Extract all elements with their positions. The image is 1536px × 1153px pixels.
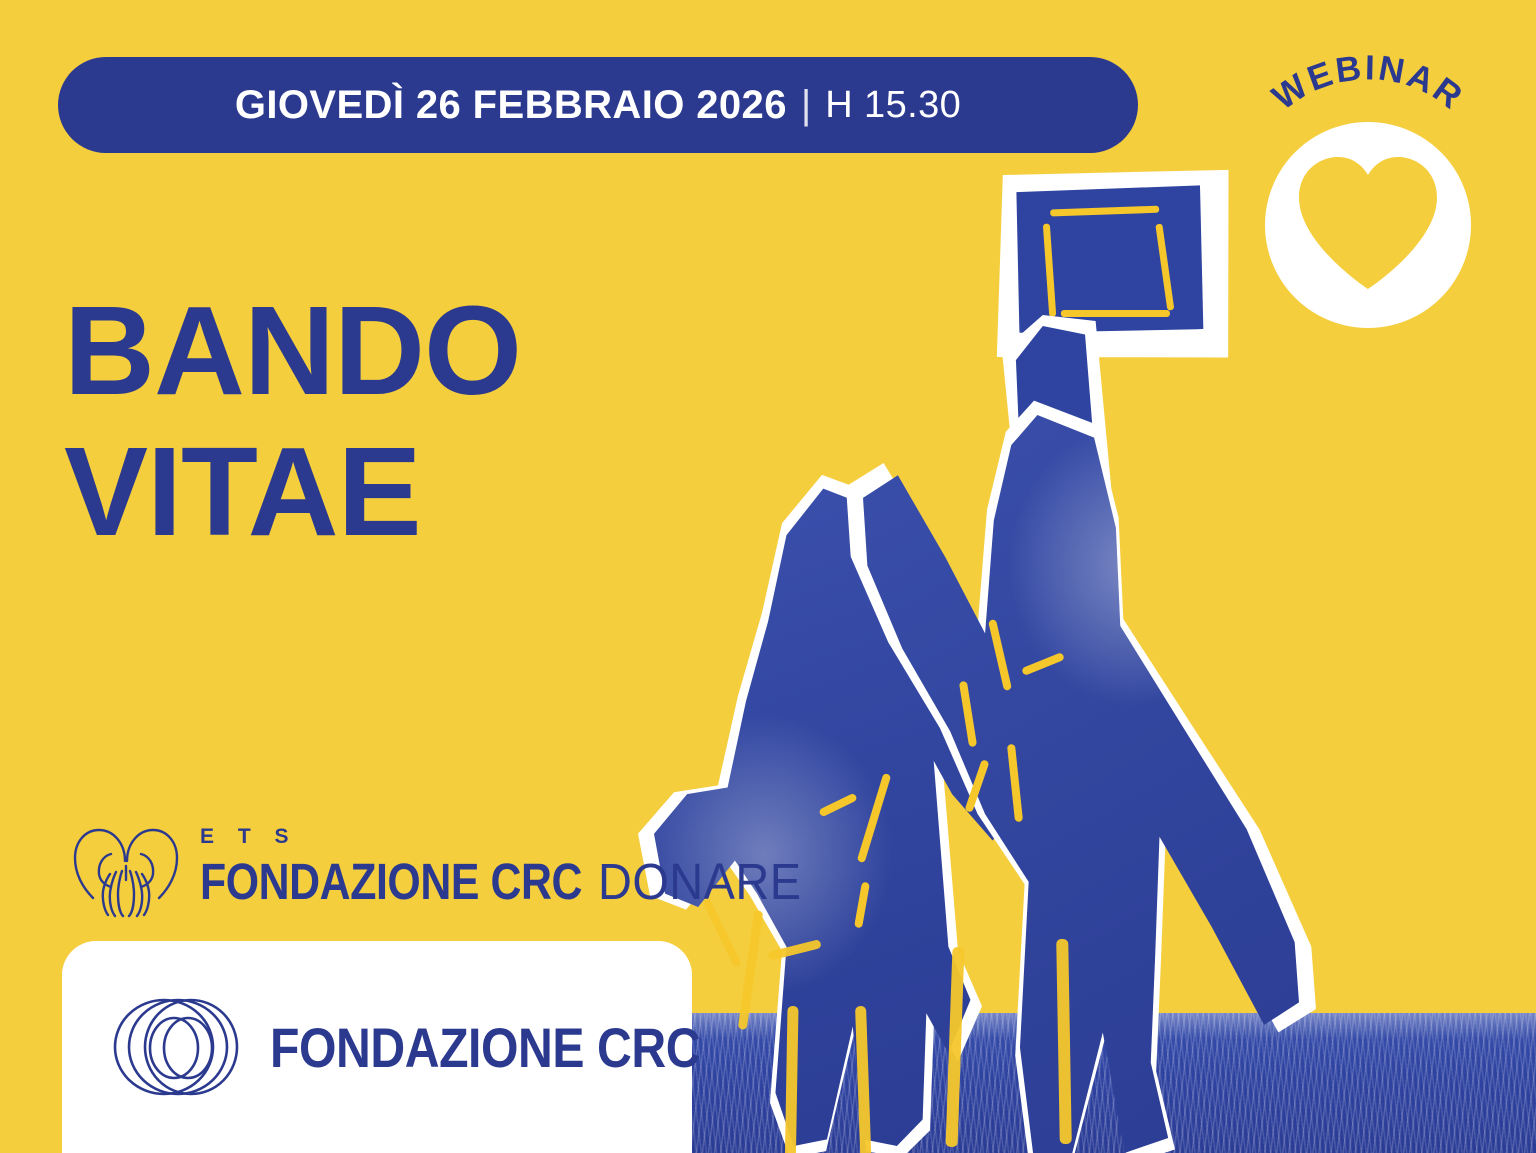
placard-stroke-bottom [1061, 310, 1170, 317]
ets-name-bold: FONDAZIONE CRC [200, 852, 582, 911]
page-title: BANDO VITAE [64, 280, 684, 562]
crc-wordmark: FONDAZIONE CRC [270, 1015, 700, 1080]
heart-icon [1293, 148, 1443, 298]
title-line-1: BANDO [64, 280, 684, 421]
cupped-hands-heart-icon [70, 818, 182, 918]
ets-wordmark: FONDAZIONE CRC DONARE [200, 852, 819, 911]
ets-text-block: E T S FONDAZIONE CRC DONARE [200, 825, 819, 911]
placard-stroke-top [1050, 206, 1159, 217]
figure-right-leg-stripe-1 [946, 946, 965, 1146]
placard-stroke-right [1156, 224, 1175, 311]
placard-stroke-left [1043, 223, 1057, 317]
webinar-label: WEBINAR [1265, 48, 1471, 118]
date-text: GIOVEDÌ 26 FEBBRAIO 2026 [235, 83, 787, 128]
webinar-badge: WEBINAR [1243, 44, 1493, 312]
title-line-2: VITAE [64, 421, 684, 562]
date-separator: | [801, 83, 811, 128]
ets-name-light: DONARE [598, 852, 802, 911]
crc-rings-logo-icon [108, 991, 244, 1103]
ets-logo: E T S FONDAZIONE CRC DONARE [70, 818, 819, 918]
poster-canvas: GIOVEDÌ 26 FEBBRAIO 2026 | H 15.30 WEBIN… [0, 0, 1536, 1153]
figure-left-highlight-5 [738, 910, 764, 1030]
figure-right-body [863, 400, 1299, 1153]
brand-card: FONDAZIONE CRC [62, 941, 692, 1153]
figure-right-cutout [846, 385, 1316, 1153]
time-text: H 15.30 [825, 84, 961, 127]
date-banner: GIOVEDÌ 26 FEBBRAIO 2026 | H 15.30 [58, 57, 1138, 153]
ets-kicker: E T S [200, 825, 819, 849]
